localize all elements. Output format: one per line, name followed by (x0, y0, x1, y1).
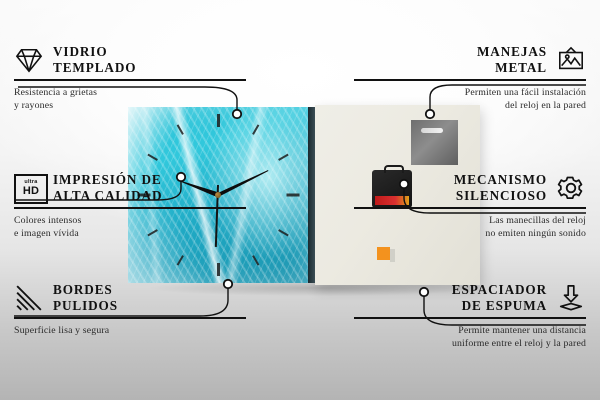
callout-subtitle: Colores intensos e imagen vívida (14, 214, 246, 240)
callout-impresion-alta-calidad: ultra HD IMPRESIÓN DE ALTA CALIDAD Color… (14, 172, 246, 240)
callout-title: VIDRIO TEMPLADO (53, 44, 136, 75)
infographic-canvas: VIDRIO TEMPLADO Resistencia a grietas y … (0, 0, 600, 400)
callout-head: MANEJAS METAL (354, 44, 586, 75)
picture-hanger-icon (556, 46, 586, 74)
callout-subtitle: Permite mantener una distancia uniforme … (354, 324, 586, 350)
callout-rule (354, 207, 586, 209)
callout-subtitle: Permiten una fácil instalación del reloj… (354, 86, 586, 112)
callout-rule (14, 79, 246, 81)
callout-rule (14, 207, 246, 209)
callout-title: MANEJAS METAL (477, 44, 547, 75)
callout-subtitle: Superficie lisa y segura (14, 324, 246, 337)
callout-rule (354, 79, 586, 81)
callout-title: IMPRESIÓN DE ALTA CALIDAD (53, 172, 162, 203)
callout-vidrio-templado: VIDRIO TEMPLADO Resistencia a grietas y … (14, 44, 246, 112)
callout-head: BORDES PULIDOS (14, 282, 246, 313)
callout-manejas-metal: MANEJAS METAL Permiten una fácil instala… (354, 44, 586, 112)
callout-mecanismo-silencioso: MECANISMO SILENCIOSO Las manecillas del … (354, 172, 586, 240)
gear-icon (556, 174, 586, 202)
callout-rule (14, 317, 246, 319)
callout-title: ESPACIADOR DE ESPUMA (452, 282, 547, 313)
diamond-icon (14, 46, 44, 74)
callout-subtitle: Las manecillas del reloj no emiten ningú… (354, 214, 586, 240)
callout-head: VIDRIO TEMPLADO (14, 44, 246, 75)
callout-subtitle: Resistencia a grietas y rayones (14, 86, 246, 112)
callout-rule (354, 317, 586, 319)
ultra-hd-icon: ultra HD (14, 174, 44, 202)
callout-bordes-pulidos: BORDES PULIDOS Superficie lisa y segura (14, 282, 246, 337)
callout-espaciador-espuma: ESPACIADOR DE ESPUMA Permite mantener un… (354, 282, 586, 350)
callout-title: BORDES PULIDOS (53, 282, 118, 313)
callout-head: MECANISMO SILENCIOSO (354, 172, 586, 203)
arrow-down-pad-icon (556, 284, 586, 312)
diagonal-lines-icon (14, 284, 44, 312)
callout-head: ultra HD IMPRESIÓN DE ALTA CALIDAD (14, 172, 246, 203)
callout-title: MECANISMO SILENCIOSO (454, 172, 547, 203)
callout-head: ESPACIADOR DE ESPUMA (354, 282, 586, 313)
